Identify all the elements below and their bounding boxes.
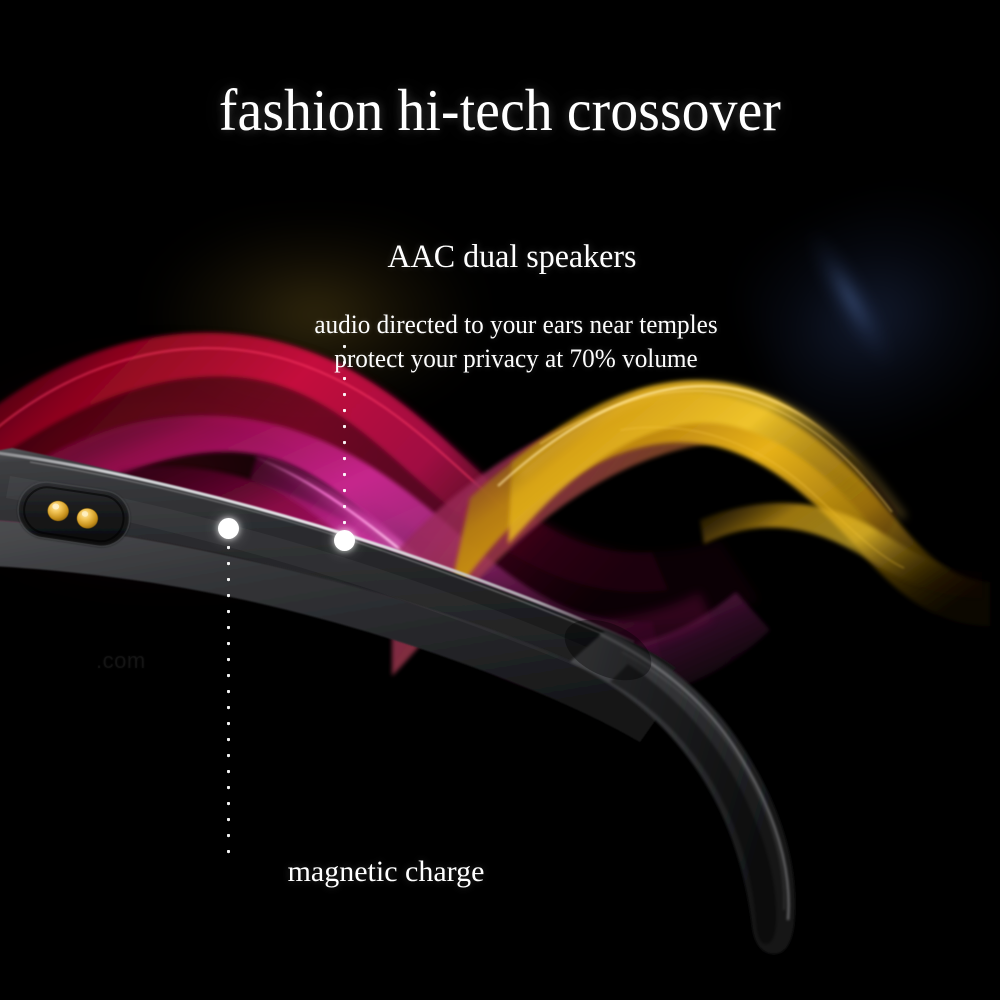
feature-description: audio directed to your ears near temples… xyxy=(16,308,1000,376)
feature-description-line-1: audio directed to your ears near temples xyxy=(31,308,1000,342)
product-graphic-canvas: fashion hi-tech crossover AAC dual speak… xyxy=(0,0,1000,1000)
page-title: fashion hi-tech crossover xyxy=(30,81,970,140)
smart-glasses-temple xyxy=(0,0,1000,1000)
site-watermark: .com xyxy=(96,648,146,674)
feature-description-line-2: protect your privacy at 70% volume xyxy=(31,342,1000,376)
feature-title: AAC dual speakers xyxy=(27,241,997,274)
callout-label-magnetic-charge: magnetic charge xyxy=(0,857,886,887)
